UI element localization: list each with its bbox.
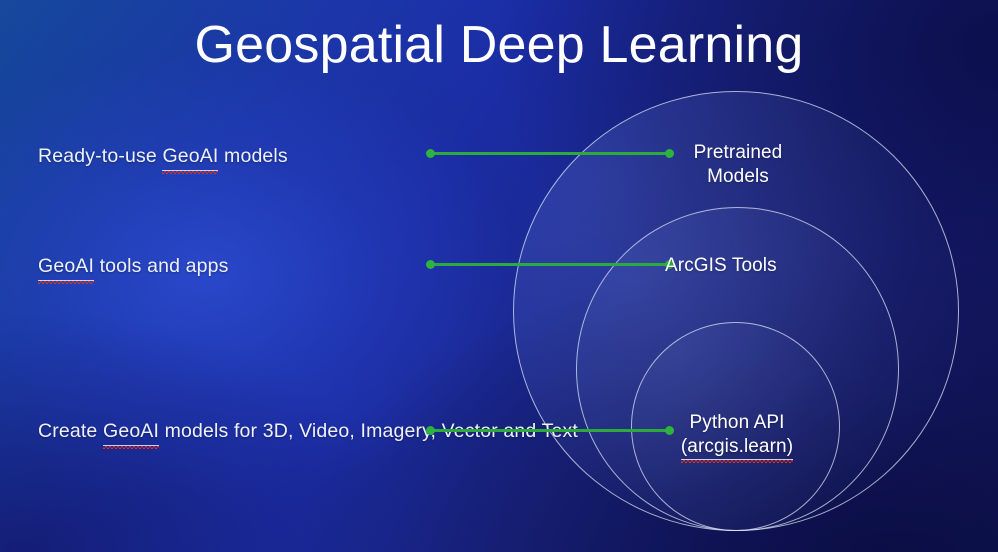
connector-line-arcgis-tools (430, 263, 670, 266)
left-label-line-1: Create GeoAI models for 3D, Video, (38, 420, 355, 442)
left-label-text-prefix: Ready-to-use (38, 145, 162, 167)
circle-label-line-1: Pretrained (668, 141, 808, 165)
connector-dot-start (426, 149, 435, 158)
misspelled-word-geoai: GeoAI (162, 143, 218, 171)
connector-dot-start (426, 260, 435, 269)
left-label-text-suffix: models for 3D, Video, (159, 420, 355, 442)
connector-dot-start (426, 426, 435, 435)
left-label-ready-to-use: Ready-to-use GeoAI models (38, 143, 288, 171)
circle-label-line-1: ArcGIS Tools (665, 254, 815, 278)
left-label-tools-and-apps: GeoAI tools and apps (38, 253, 229, 281)
page-title: Geospatial Deep Learning (0, 16, 998, 76)
misspelled-word-arcgis-learn: (arcgis.learn) (681, 435, 793, 460)
left-label-text-suffix: tools and apps (94, 255, 229, 277)
circle-label-line-2: Models (668, 165, 808, 189)
left-label-text-suffix: models (218, 145, 287, 167)
circle-label-pretrained-models: Pretrained Models (668, 141, 808, 189)
circle-label-line-1: Python API (664, 411, 810, 435)
circle-label-python-api: Python API (arcgis.learn) (664, 411, 810, 460)
connector-line-pretrained-models (430, 152, 670, 155)
connector-line-python-api (430, 429, 670, 432)
slide-canvas: Geospatial Deep Learning Ready-to-use Ge… (0, 0, 998, 552)
left-label-text-prefix: Create (38, 420, 103, 442)
misspelled-word-geoai: GeoAI (103, 418, 159, 446)
misspelled-word-geoai: GeoAI (38, 253, 94, 281)
circle-label-line-2: (arcgis.learn) (664, 435, 810, 460)
circle-label-arcgis-tools: ArcGIS Tools (665, 254, 815, 278)
